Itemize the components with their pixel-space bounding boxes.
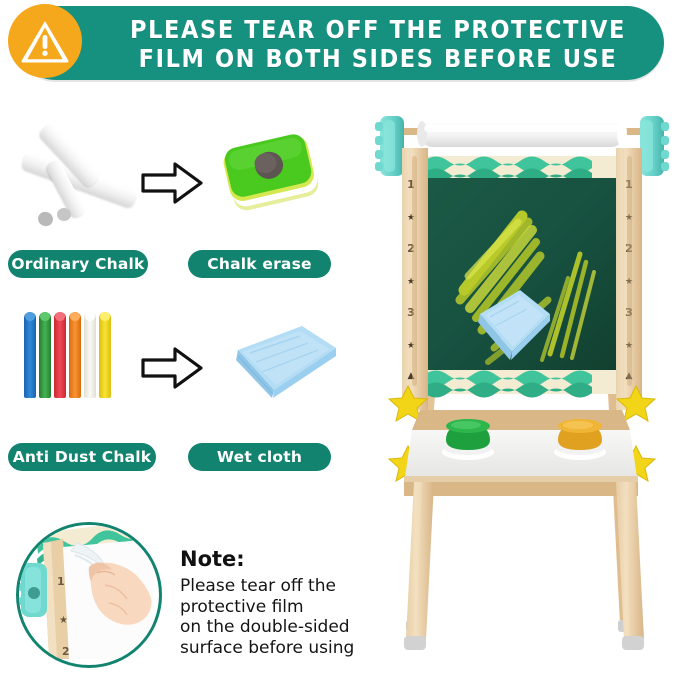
label-wet-cloth-text: Wet cloth (217, 448, 302, 466)
warning-banner: PLEASE TEAR OFF THE PROTECTIVE FILM ON B… (18, 6, 664, 80)
infographic-canvas: PLEASE TEAR OFF THE PROTECTIVE FILM ON B… (0, 0, 679, 673)
paper-roll (400, 121, 644, 147)
easel-front-legs (404, 482, 644, 650)
chalkboard (424, 178, 616, 370)
warning-badge (8, 4, 82, 78)
label-anti-dust-chalk: Anti Dust Chalk (8, 443, 156, 471)
label-chalk-erase: Chalk erase (188, 250, 331, 278)
label-anti-dust-chalk-text: Anti Dust Chalk (13, 448, 152, 466)
label-ordinary-chalk-text: Ordinary Chalk (11, 255, 144, 273)
warning-triangle-icon (19, 18, 71, 64)
white-chalk-sticks-icon (14, 130, 144, 235)
easel-illustration: 1 ★ 2 ★ 3 ★ ▲ 1 ★ 2 ★ 3 ★ ▲ (372, 104, 672, 664)
right-arrow-icon (140, 160, 204, 211)
right-arrow-icon-2 (140, 345, 204, 396)
banner-text: PLEASE TEAR OFF THE PROTECTIVE FILM ON B… (104, 15, 652, 73)
hand-peeling-film-photo: 1 ★ 2 (16, 522, 162, 668)
label-wet-cloth: Wet cloth (188, 443, 331, 471)
svg-text:1: 1 (57, 575, 65, 588)
wave-band-bottom (424, 370, 616, 398)
colored-chalk-sticks-icon (24, 312, 120, 398)
green-chalk-eraser-icon (222, 130, 322, 226)
svg-text:★: ★ (59, 615, 68, 626)
right-top-knob (640, 116, 669, 176)
note-title: Note: (180, 547, 245, 571)
blue-wet-cloth-icon (232, 322, 340, 404)
label-ordinary-chalk: Ordinary Chalk (8, 250, 148, 278)
green-paint-cup (442, 419, 494, 460)
left-top-knob (375, 116, 404, 176)
label-chalk-erase-text: Chalk erase (207, 255, 311, 273)
orange-paint-cup (554, 419, 606, 460)
